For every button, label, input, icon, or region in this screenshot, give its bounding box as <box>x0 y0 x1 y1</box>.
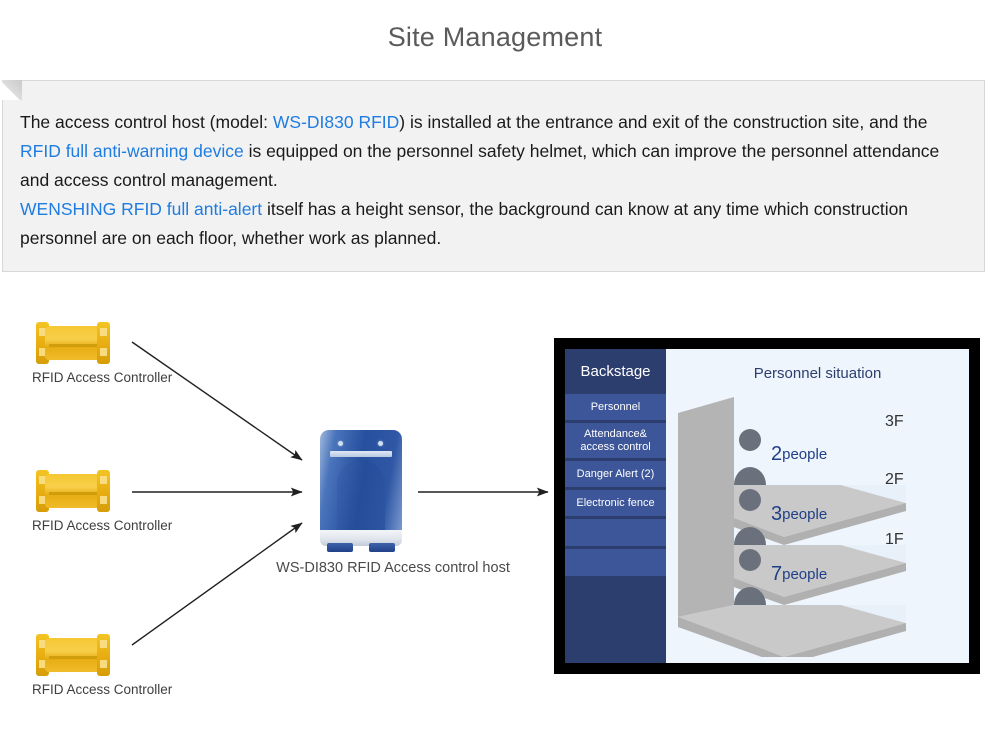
floor-count-number-1f: 7 <box>771 563 782 585</box>
floor-count-unit-2f: people <box>782 506 827 523</box>
reader-notch <box>100 496 107 504</box>
description-text-run: The access control host (model: <box>20 112 273 132</box>
reader-body <box>45 326 101 360</box>
reader-body <box>45 638 101 672</box>
rfid-controller-icon <box>36 634 110 676</box>
floor-count-1f: 7people <box>771 563 827 586</box>
backstage-sidebar: Backstage Personnel Attendance& access c… <box>565 349 666 663</box>
reader-notch <box>100 640 107 648</box>
host-label: WS-DI830 RFID Access control host <box>248 560 538 576</box>
monitor-screen: Backstage Personnel Attendance& access c… <box>565 349 969 663</box>
reader-notch <box>100 348 107 356</box>
reader-body <box>45 474 101 508</box>
reader-notch <box>100 476 107 484</box>
reader-cap-right <box>97 634 110 676</box>
reader-label: RFID Access Controller <box>32 682 192 697</box>
reader-label: RFID Access Controller <box>32 518 192 533</box>
floor-count-unit-3f: people <box>782 446 827 463</box>
host-led-icon <box>338 441 343 446</box>
architecture-diagram: RFID Access Controller RFID Access Contr… <box>0 300 990 737</box>
sidebar-title: Backstage <box>565 349 666 394</box>
access-control-host-node[interactable]: WS-DI830 RFID Access control host <box>312 430 412 552</box>
reader-notch <box>100 328 107 336</box>
access-control-host-icon <box>320 430 402 552</box>
reader-cap-right <box>97 470 110 512</box>
backstage-monitor: Backstage Personnel Attendance& access c… <box>554 338 980 674</box>
description-link[interactable]: WS-DI830 RFID <box>273 112 399 132</box>
panel-folded-corner <box>2 80 22 100</box>
sidebar-item-electronic-fence[interactable]: Electronic fence <box>565 490 666 516</box>
sidebar-filler <box>565 579 666 663</box>
arrow-reader3-to-host <box>132 523 302 645</box>
floor-label-2f: 2F <box>885 471 904 489</box>
person-icon-3f <box>734 429 766 485</box>
rfid-controller-icon <box>36 322 110 364</box>
reader-node-2[interactable]: RFID Access Controller <box>32 470 192 533</box>
sidebar-item-blank-2[interactable] <box>565 549 666 576</box>
floor-count-3f: 2people <box>771 443 827 466</box>
reader-seam <box>49 344 97 347</box>
description-text-run: ) is installed at the entrance and exit … <box>399 112 927 132</box>
reader-node-3[interactable]: RFID Access Controller <box>32 634 192 697</box>
sidebar-item-personnel[interactable]: Personnel <box>565 394 666 420</box>
description-link[interactable]: WENSHING RFID full anti-alert <box>20 199 262 219</box>
floor-count-unit-1f: people <box>782 566 827 583</box>
host-foot <box>369 543 395 552</box>
sidebar-item-blank-1[interactable] <box>565 519 666 546</box>
floor-count-number-2f: 3 <box>771 503 782 525</box>
reader-cap-right <box>97 322 110 364</box>
reader-label: RFID Access Controller <box>32 370 192 385</box>
rfid-controller-icon <box>36 470 110 512</box>
description-text: The access control host (model: WS-DI830… <box>20 108 965 253</box>
sidebar-item-attendance-access-control[interactable]: Attendance& access control <box>565 423 666 458</box>
host-foot <box>327 543 353 552</box>
reader-notch <box>100 660 107 668</box>
host-led-icon <box>378 441 383 446</box>
reader-seam <box>49 492 97 495</box>
floor-label-3f: 3F <box>885 413 904 431</box>
description-link[interactable]: RFID full anti-warning device <box>20 141 244 161</box>
floor-label-1f: 1F <box>885 531 904 549</box>
host-label-strip <box>330 451 392 457</box>
floor-count-number-3f: 2 <box>771 443 782 465</box>
reader-seam <box>49 656 97 659</box>
panel-title: Personnel situation <box>666 365 969 382</box>
host-screen <box>337 460 385 532</box>
page-title: Site Management <box>0 22 990 53</box>
floor-count-2f: 3people <box>771 503 827 526</box>
sidebar-item-danger-alert[interactable]: Danger Alert (2) <box>565 461 666 487</box>
reader-node-1[interactable]: RFID Access Controller <box>32 322 192 385</box>
personnel-situation-panel: Personnel situation <box>666 349 969 663</box>
